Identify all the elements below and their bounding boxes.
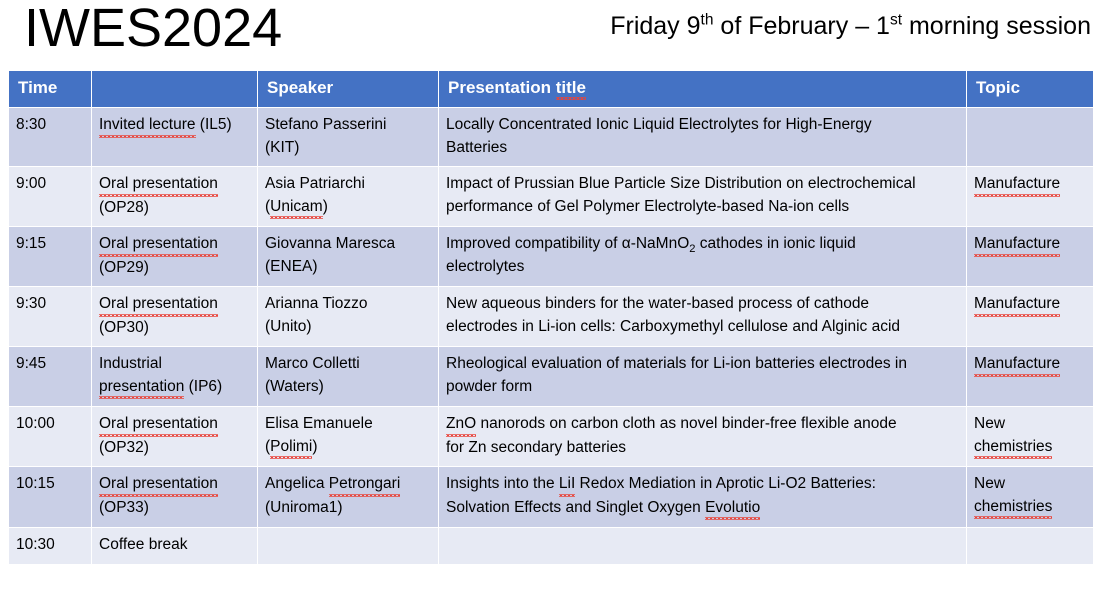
title-line-2: performance of Gel Polymer Electrolyte-b… xyxy=(446,196,959,219)
speaker-name: Giovanna Maresca xyxy=(265,233,431,256)
table-row: 8:30 Invited lecture (IL5) Stefano Passe… xyxy=(9,108,1094,167)
title-line-2: electrodes in Li-ion cells: Carboxymethy… xyxy=(446,316,959,339)
slide-header: IWES2024 Friday 9th of February – 1st mo… xyxy=(0,0,1101,66)
title-line-1: ZnO nanorods on carbon cloth as novel bi… xyxy=(446,413,959,437)
topic-line-1: Manufacture xyxy=(974,233,1060,257)
cell-title: Insights into the LiI Redox Mediation in… xyxy=(439,467,967,528)
cell-title: Locally Concentrated Ionic Liquid Electr… xyxy=(439,108,967,167)
schedule-table: Time Speaker Presentation title Topic 8:… xyxy=(8,70,1094,565)
table-row: 9:30 Oral presentation(OP30) Arianna Tio… xyxy=(9,287,1094,347)
title-line-1: New aqueous binders for the water-based … xyxy=(446,293,959,316)
title-line-2: electrolytes xyxy=(446,256,959,279)
cell-title: Rheological evaluation of materials for … xyxy=(439,347,967,407)
cell-type-code: (OP32) xyxy=(99,437,250,460)
cell-time: 9:45 xyxy=(9,347,92,407)
cell-title: Impact of Prussian Blue Particle Size Di… xyxy=(439,167,967,227)
speaker-affiliation: (Waters) xyxy=(265,376,431,399)
column-header-presentation-title: Presentation title xyxy=(439,71,967,108)
presentation-slide: IWES2024 Friday 9th of February – 1st mo… xyxy=(0,0,1101,600)
page-title: IWES2024 xyxy=(24,0,282,58)
speaker-affiliation: (KIT) xyxy=(265,137,431,160)
speaker-name: Arianna Tiozzo xyxy=(265,293,431,316)
speaker-name: Marco Colletti xyxy=(265,353,431,376)
speaker-name: Elisa Emanuele xyxy=(265,413,431,436)
cell-speaker xyxy=(258,528,439,565)
cell-time: 9:30 xyxy=(9,287,92,347)
title-line-2: for Zn secondary batteries xyxy=(446,437,959,460)
cell-time: 10:00 xyxy=(9,407,92,467)
cell-type: Coffee break xyxy=(92,528,258,565)
table-row: 10:00 Oral presentation(OP32) Elisa Eman… xyxy=(9,407,1094,467)
session-date-ordinal-2: st xyxy=(890,12,902,29)
cell-time: 8:30 xyxy=(9,108,92,167)
cell-type: Invited lecture (IL5) xyxy=(92,108,258,167)
title-line-2: Solvation Effects and Singlet Oxygen Evo… xyxy=(446,497,959,521)
cell-time: 10:30 xyxy=(9,528,92,565)
topic-line-1: New xyxy=(974,413,1086,436)
schedule-table-body: 8:30 Invited lecture (IL5) Stefano Passe… xyxy=(9,108,1094,565)
cell-type-code: (IL5) xyxy=(196,116,232,133)
speaker-affiliation: (Polimi) xyxy=(265,436,431,460)
cell-topic: Newchemistries xyxy=(967,407,1094,467)
cell-type: Industrialpresentation (IP6) xyxy=(92,347,258,407)
cell-speaker: Elisa Emanuele(Polimi) xyxy=(258,407,439,467)
cell-speaker: Angelica Petrongari(Uniroma1) xyxy=(258,467,439,528)
cell-type-main: Oral presentation xyxy=(99,473,218,497)
cell-time: 10:15 xyxy=(9,467,92,528)
cell-type-code: (OP28) xyxy=(99,197,250,220)
speaker-affiliation: (Uniroma1) xyxy=(265,497,431,520)
cell-type-code: (OP33) xyxy=(99,497,250,520)
speaker-affiliation: (ENEA) xyxy=(265,256,431,279)
cell-topic: Manufacture xyxy=(967,227,1094,287)
cell-title: New aqueous binders for the water-based … xyxy=(439,287,967,347)
topic-line-2: chemistries xyxy=(974,436,1052,460)
cell-title xyxy=(439,528,967,565)
cell-type-main: Industrial xyxy=(99,353,250,376)
title-line-2: Batteries xyxy=(446,137,959,160)
session-date-prefix: Friday 9 xyxy=(610,12,700,40)
speaker-name: Stefano Passerini xyxy=(265,114,431,137)
cell-type: Oral presentation(OP30) xyxy=(92,287,258,347)
topic-line-1: New xyxy=(974,473,1086,496)
column-header-time: Time xyxy=(9,71,92,108)
title-line-1: Improved compatibility of α-NaMnO2 catho… xyxy=(446,233,959,256)
speaker-affiliation: (Unito) xyxy=(265,316,431,339)
cell-type: Oral presentation(OP28) xyxy=(92,167,258,227)
cell-type-main: Oral presentation xyxy=(99,293,218,317)
title-line-1: Locally Concentrated Ionic Liquid Electr… xyxy=(446,114,959,137)
table-row: 10:15 Oral presentation(OP33) Angelica P… xyxy=(9,467,1094,528)
title-line-1: Impact of Prussian Blue Particle Size Di… xyxy=(446,173,959,196)
topic-line-1: Manufacture xyxy=(974,353,1060,377)
title-line-1: Rheological evaluation of materials for … xyxy=(446,353,959,376)
speaker-name: Angelica Petrongari xyxy=(265,473,431,497)
cell-type: Oral presentation(OP29) xyxy=(92,227,258,287)
column-header-type xyxy=(92,71,258,108)
topic-line-1: Manufacture xyxy=(974,173,1060,197)
cell-speaker: Asia Patriarchi(Unicam) xyxy=(258,167,439,227)
cell-type-main: Oral presentation xyxy=(99,173,218,197)
cell-type-code: (OP29) xyxy=(99,257,250,280)
speaker-affiliation: (Unicam) xyxy=(265,196,431,220)
topic-line-1: Manufacture xyxy=(974,293,1060,317)
cell-time: 9:15 xyxy=(9,227,92,287)
table-row: 9:15 Oral presentation(OP29) Giovanna Ma… xyxy=(9,227,1094,287)
title-line-2: powder form xyxy=(446,376,959,399)
cell-topic xyxy=(967,108,1094,167)
session-date-ordinal-1: th xyxy=(701,12,714,29)
table-header-row: Time Speaker Presentation title Topic xyxy=(9,71,1094,108)
speaker-name: Asia Patriarchi xyxy=(265,173,431,196)
cell-type-main: Oral presentation xyxy=(99,413,218,437)
table-row: 10:30 Coffee break xyxy=(9,528,1094,565)
cell-speaker: Arianna Tiozzo(Unito) xyxy=(258,287,439,347)
cell-topic: Manufacture xyxy=(967,167,1094,227)
cell-type-code: presentation (IP6) xyxy=(99,376,250,400)
column-header-topic: Topic xyxy=(967,71,1094,108)
cell-topic xyxy=(967,528,1094,565)
table-row: 9:45 Industrialpresentation (IP6) Marco … xyxy=(9,347,1094,407)
cell-topic: Manufacture xyxy=(967,287,1094,347)
table-row: 9:00 Oral presentation(OP28) Asia Patria… xyxy=(9,167,1094,227)
title-line-1: Insights into the LiI Redox Mediation in… xyxy=(446,473,959,497)
cell-type-code: (OP30) xyxy=(99,317,250,340)
cell-speaker: Giovanna Maresca(ENEA) xyxy=(258,227,439,287)
column-header-speaker: Speaker xyxy=(258,71,439,108)
cell-type: Oral presentation(OP33) xyxy=(92,467,258,528)
cell-time: 9:00 xyxy=(9,167,92,227)
session-date-mid: of February – 1 xyxy=(713,12,889,40)
topic-line-2: chemistries xyxy=(974,496,1052,520)
session-subtitle: Friday 9th of February – 1st morning ses… xyxy=(610,10,1091,42)
cell-type-main: Oral presentation xyxy=(99,233,218,257)
column-header-presentation-title-text: Presentation title xyxy=(448,78,586,97)
cell-topic: Newchemistries xyxy=(967,467,1094,528)
cell-speaker: Marco Colletti(Waters) xyxy=(258,347,439,407)
cell-type: Oral presentation(OP32) xyxy=(92,407,258,467)
cell-speaker: Stefano Passerini(KIT) xyxy=(258,108,439,167)
cell-topic: Manufacture xyxy=(967,347,1094,407)
session-date-suffix: morning session xyxy=(902,12,1091,40)
cell-title: ZnO nanorods on carbon cloth as novel bi… xyxy=(439,407,967,467)
cell-type-main: Invited lecture xyxy=(99,114,196,138)
cell-title: Improved compatibility of α-NaMnO2 catho… xyxy=(439,227,967,287)
